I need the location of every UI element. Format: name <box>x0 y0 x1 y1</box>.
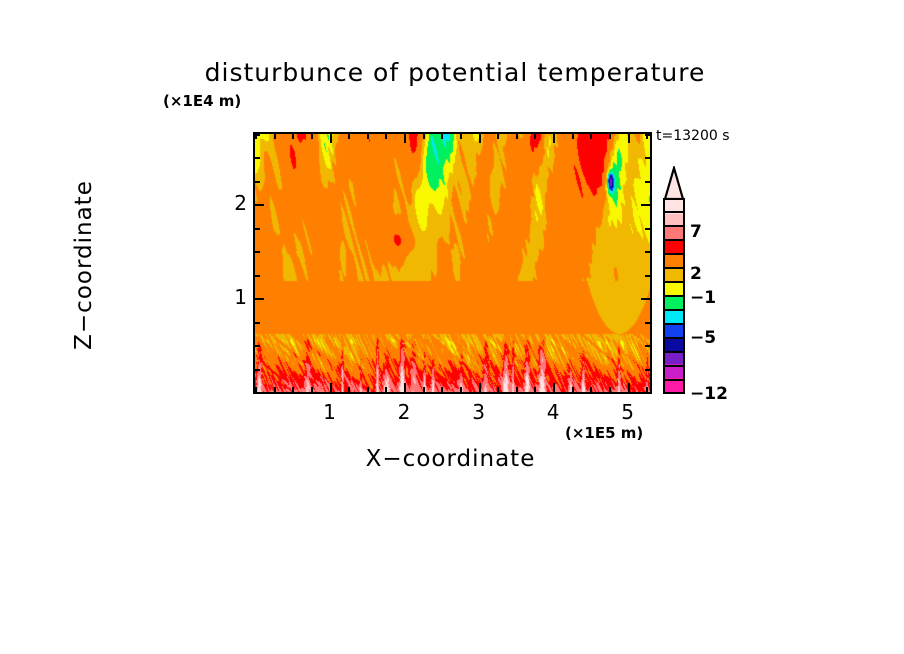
y-tick-left <box>255 298 264 300</box>
x-tick-top <box>311 134 313 139</box>
x-tick-top <box>330 134 332 143</box>
colorbar-divider <box>663 379 685 381</box>
y-tick-left <box>255 345 260 347</box>
y-tick-label: 2 <box>207 191 247 215</box>
x-tick-bottom <box>367 387 369 392</box>
y-tick-left <box>255 228 260 230</box>
y-tick-left <box>255 369 260 371</box>
colorbar-divider <box>663 309 685 311</box>
x-tick-bottom <box>497 387 499 392</box>
x-tick-bottom <box>330 383 332 392</box>
colorbar-segment <box>665 323 683 337</box>
y-tick-right <box>645 228 650 230</box>
title-units-label: (×1E4 m) <box>163 92 241 110</box>
y-tick-right <box>645 181 650 183</box>
x-tick-bottom <box>385 387 387 392</box>
colorbar-tick-label: 2 <box>690 264 702 284</box>
x-tick-top <box>385 134 387 139</box>
x-tick-top <box>423 134 425 139</box>
colorbar-tick-label: 7 <box>690 222 702 242</box>
y-tick-right <box>645 134 650 136</box>
x-tick-bottom <box>479 383 481 392</box>
y-tick-left <box>255 157 260 159</box>
x-tick-label: 5 <box>608 400 648 424</box>
colorbar-divider <box>663 323 685 325</box>
y-tick-right <box>645 345 650 347</box>
y-tick-left <box>255 204 264 206</box>
y-tick-left <box>255 392 260 394</box>
colorbar-segment <box>665 296 683 310</box>
y-tick-label: 1 <box>207 285 247 309</box>
contour-field <box>255 134 650 392</box>
x-tick-top <box>553 134 555 143</box>
x-tick-top <box>609 134 611 139</box>
colorbar-divider <box>663 253 685 255</box>
colorbar-divider <box>663 211 685 213</box>
x-tick-bottom <box>628 383 630 392</box>
x-tick-bottom <box>292 387 294 392</box>
figure-canvas: disturbunce of potential temperature (×1… <box>0 0 904 654</box>
x-tick-bottom <box>609 387 611 392</box>
colorbar-arrow-icon <box>661 166 687 200</box>
contour-plot <box>253 132 652 394</box>
x-tick-top <box>348 134 350 139</box>
x-tick-top <box>274 134 276 139</box>
x-tick-bottom <box>441 387 443 392</box>
colorbar-divider <box>663 365 685 367</box>
x-tick-top <box>441 134 443 139</box>
colorbar <box>661 166 687 394</box>
y-tick-left <box>255 322 260 324</box>
colorbar-divider <box>663 281 685 283</box>
y-tick-right <box>641 298 650 300</box>
colorbar-divider <box>663 295 685 297</box>
y-tick-right <box>645 322 650 324</box>
x-tick-top <box>404 134 406 143</box>
x-tick-bottom <box>553 383 555 392</box>
x-tick-bottom <box>516 387 518 392</box>
x-tick-bottom <box>348 387 350 392</box>
y-tick-right <box>641 204 650 206</box>
colorbar-tick-label: −1 <box>690 288 716 308</box>
colorbar-tick-label: −5 <box>690 328 716 348</box>
x-tick-top <box>534 134 536 139</box>
time-stamp-label: t=13200 s <box>656 128 730 144</box>
x-tick-bottom <box>460 387 462 392</box>
x-units-label: (×1E5 m) <box>565 424 643 442</box>
x-tick-bottom <box>311 387 313 392</box>
x-tick-bottom <box>590 387 592 392</box>
x-tick-bottom <box>423 387 425 392</box>
x-tick-bottom <box>274 387 276 392</box>
x-tick-top <box>367 134 369 139</box>
x-tick-top <box>497 134 499 139</box>
colorbar-divider <box>663 225 685 227</box>
x-tick-top <box>572 134 574 139</box>
x-tick-label: 3 <box>459 400 499 424</box>
y-tick-left <box>255 181 260 183</box>
colorbar-divider <box>663 351 685 353</box>
x-tick-bottom <box>404 383 406 392</box>
y-tick-left <box>255 275 260 277</box>
page-title: disturbunce of potential temperature <box>170 58 740 87</box>
colorbar-divider <box>663 337 685 339</box>
x-tick-top <box>292 134 294 139</box>
x-tick-top <box>628 134 630 143</box>
x-tick-bottom <box>534 387 536 392</box>
y-tick-left <box>255 134 260 136</box>
x-tick-label: 1 <box>310 400 350 424</box>
x-tick-bottom <box>572 387 574 392</box>
x-tick-label: 4 <box>533 400 573 424</box>
x-tick-top <box>479 134 481 143</box>
colorbar-segment <box>665 337 683 351</box>
y-tick-right <box>645 275 650 277</box>
x-tick-top <box>590 134 592 139</box>
x-tick-top <box>460 134 462 139</box>
colorbar-divider <box>663 267 685 269</box>
y-tick-right <box>645 251 650 253</box>
y-tick-right <box>645 369 650 371</box>
x-tick-top <box>516 134 518 139</box>
colorbar-divider <box>663 239 685 241</box>
x-axis-title: X−coordinate <box>253 446 648 472</box>
y-tick-right <box>645 157 650 159</box>
y-axis-title: Z−coordinate <box>71 135 97 395</box>
y-tick-right <box>645 392 650 394</box>
y-tick-left <box>255 251 260 253</box>
colorbar-segment <box>665 282 683 296</box>
colorbar-tick-label: −12 <box>690 384 728 404</box>
colorbar-segment <box>665 310 683 324</box>
x-tick-label: 2 <box>384 400 424 424</box>
